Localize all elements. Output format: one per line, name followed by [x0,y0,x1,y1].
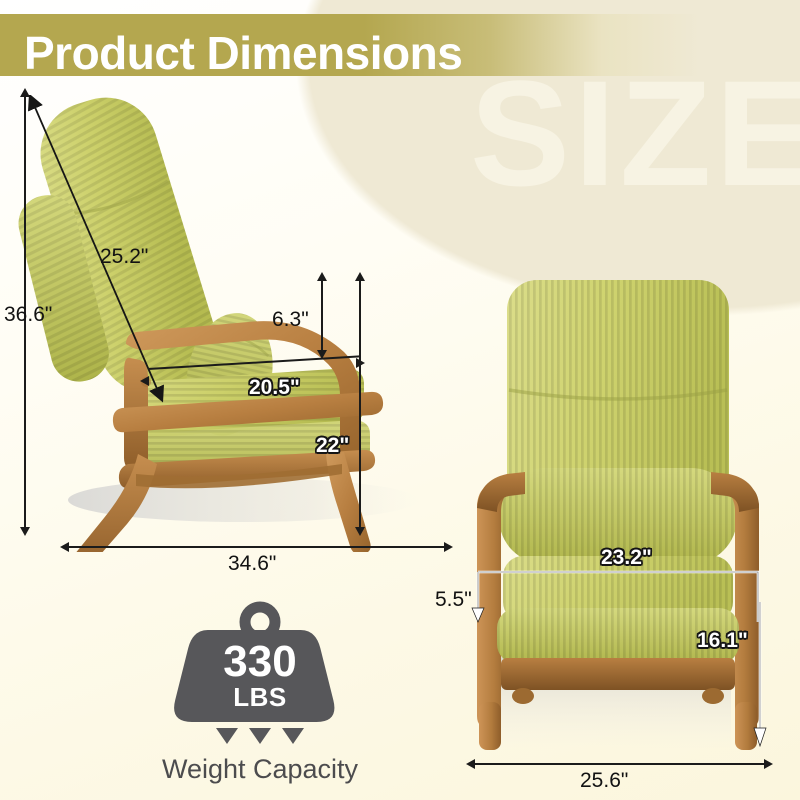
arrowhead-back-height-top [355,272,365,281]
dimension-label-seat-width: 23.2" [601,546,652,570]
front-view-chair-illustration [455,272,785,772]
dimension-label-back-height: 22" [316,434,349,458]
dimension-label-seat-height: 16.1" [697,629,748,653]
dimension-line-back-height [359,278,361,533]
arrowhead-seat-depth-left [140,376,149,386]
dimension-frame-seat-width [470,560,770,640]
weight-capacity-badge: 330 LBS Weight Capacity [160,600,360,790]
weight-capacity-caption: Weight Capacity [160,754,360,785]
dimension-line-seat-height [752,600,778,752]
dimension-label-seat-depth: 20.5" [249,376,300,400]
arrowhead-overall-depth-right [444,542,453,552]
dimension-label-overall-depth: 34.6" [228,552,276,576]
arrowhead-overall-depth-left [60,542,69,552]
arrowhead-overall-width-left [466,759,475,769]
arrowhead-overall-height-bottom [20,527,30,536]
dimension-label-overall-width: 25.6" [580,769,628,793]
page-title: Product Dimensions [24,30,462,76]
arrowhead-back-height-bottom [355,527,365,536]
weight-capacity-number: 330 [160,640,360,684]
dimension-line-arm-height [321,278,323,356]
arrowhead-overall-width-right [764,759,773,769]
header-banner: Product Dimensions [0,14,700,76]
dimension-label-cushion-height: 5.5" [435,588,472,612]
weight-capacity-unit: LBS [160,684,360,710]
arrowhead-arm-height-top [317,272,327,281]
dimension-line-overall-width [474,763,770,765]
dimension-line-overall-depth [68,546,450,548]
dimension-label-backrest-height: 25.2" [100,245,148,269]
size-watermark-text: SIZE [470,58,800,208]
infographic-canvas: SIZE Product Dimensions [0,0,800,800]
dimension-label-arm-height: 6.3" [272,308,309,332]
